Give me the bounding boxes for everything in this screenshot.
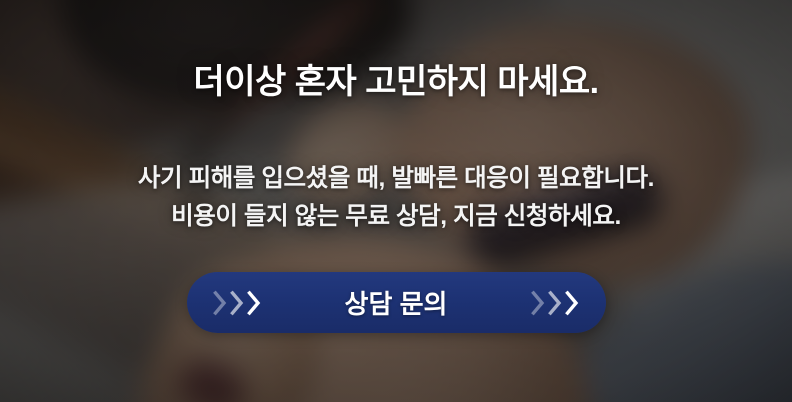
chevron-right-icon xyxy=(531,290,546,316)
chevron-right-icon xyxy=(565,290,580,316)
banner-subline-1: 사기 피해를 입으셨을 때, 발빠른 대응이 필요합니다. xyxy=(0,160,792,198)
promo-banner: 더이상 혼자 고민하지 마세요. 사기 피해를 입으셨을 때, 발빠른 대응이 … xyxy=(0,0,792,402)
chevron-right-triple-icon-right xyxy=(531,290,580,316)
consultation-inquiry-button[interactable]: 상담 문의 xyxy=(187,272,606,333)
banner-content: 더이상 혼자 고민하지 마세요. 사기 피해를 입으셨을 때, 발빠른 대응이 … xyxy=(0,0,792,402)
chevron-right-triple-icon-left xyxy=(213,290,262,316)
banner-subline-2: 비용이 들지 않는 무료 상담, 지금 신청하세요. xyxy=(0,198,792,236)
cta-container: 상담 문의 xyxy=(0,272,792,333)
chevron-right-icon xyxy=(230,290,245,316)
banner-headline: 더이상 혼자 고민하지 마세요. xyxy=(0,62,792,103)
chevron-right-icon xyxy=(213,290,228,316)
banner-subcopy: 사기 피해를 입으셨을 때, 발빠른 대응이 필요합니다. 비용이 들지 않는 … xyxy=(0,160,792,236)
chevron-right-icon xyxy=(247,290,262,316)
chevron-right-icon xyxy=(548,290,563,316)
